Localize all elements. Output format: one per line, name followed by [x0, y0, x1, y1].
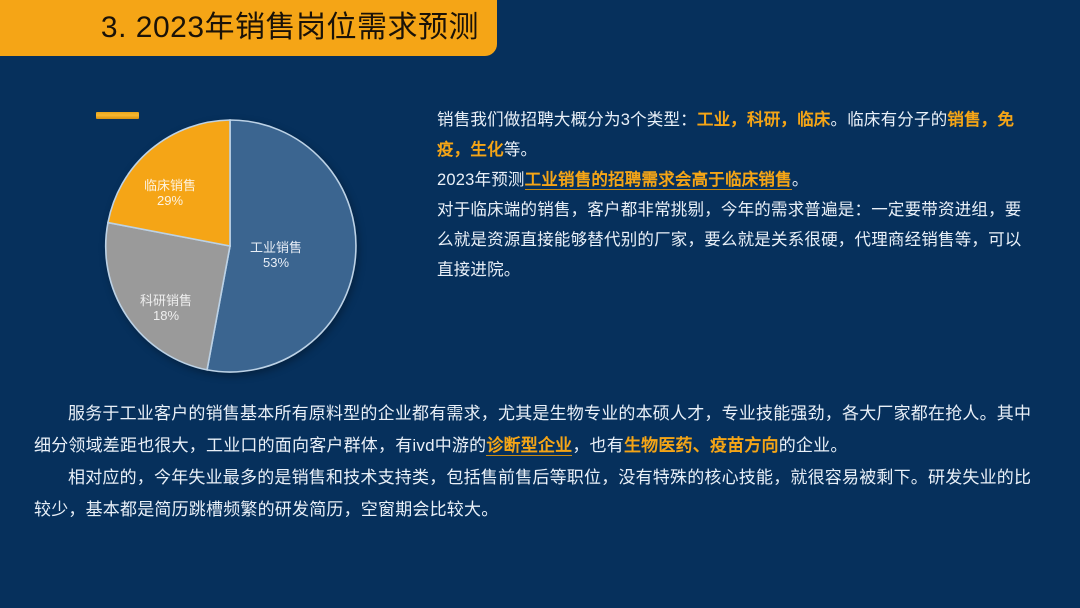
forecast-seg1: 2023年预测	[437, 171, 525, 189]
sales-types-seg3: 等。	[504, 141, 537, 159]
slide-title-banner: 3. 2023年销售岗位需求预测	[0, 0, 497, 56]
sales-types-highlight-1: 工业，科研，临床	[697, 111, 831, 129]
paragraph-industrial-clients: 服务于工业客户的销售基本所有原料型的企业都有需求，尤其是生物专业的本硕人才，专业…	[34, 398, 1046, 462]
industrial-clients-highlight-2: 生物医药、疫苗方向	[624, 436, 779, 455]
sales-types-seg1: 销售我们做招聘大概分为3个类型：	[437, 111, 697, 129]
page-title: 3. 2023年销售岗位需求预测	[101, 13, 479, 43]
pie-chart-panel: 工业销售 53% 临床销售 29% 科研销售 18%	[80, 100, 420, 380]
right-text-column: 销售我们做招聘大概分为3个类型：工业，科研，临床。临床有分子的销售，免疫，生化等…	[437, 105, 1037, 285]
pie-chart-svg	[102, 118, 358, 374]
industrial-clients-seg3: 的企业。	[779, 436, 848, 455]
pie-chart: 工业销售 53% 临床销售 29% 科研销售 18%	[102, 118, 358, 374]
bottom-text-block: 服务于工业客户的销售基本所有原料型的企业都有需求，尤其是生物专业的本硕人才，专业…	[34, 398, 1046, 526]
paragraph-clinical-sales: 对于临床端的销售，客户都非常挑剔，今年的需求普遍是：一定要带资进组，要么就是资源…	[437, 195, 1037, 285]
paragraph-forecast: 2023年预测工业销售的招聘需求会高于临床销售。	[437, 165, 1037, 195]
forecast-highlight: 工业销售的招聘需求会高于临床销售	[525, 171, 792, 190]
paragraph-unemployment: 相对应的，今年失业最多的是销售和技术支持类，包括售前售后等职位，没有特殊的核心技…	[34, 462, 1046, 526]
pie-slice-research	[106, 223, 230, 370]
industrial-clients-highlight-1: 诊断型企业	[486, 436, 572, 456]
sales-types-seg2: 。临床有分子的	[831, 111, 948, 129]
forecast-seg2: 。	[792, 171, 809, 189]
industrial-clients-seg2: ，也有	[572, 436, 624, 455]
paragraph-sales-types: 销售我们做招聘大概分为3个类型：工业，科研，临床。临床有分子的销售，免疫，生化等…	[437, 105, 1037, 165]
